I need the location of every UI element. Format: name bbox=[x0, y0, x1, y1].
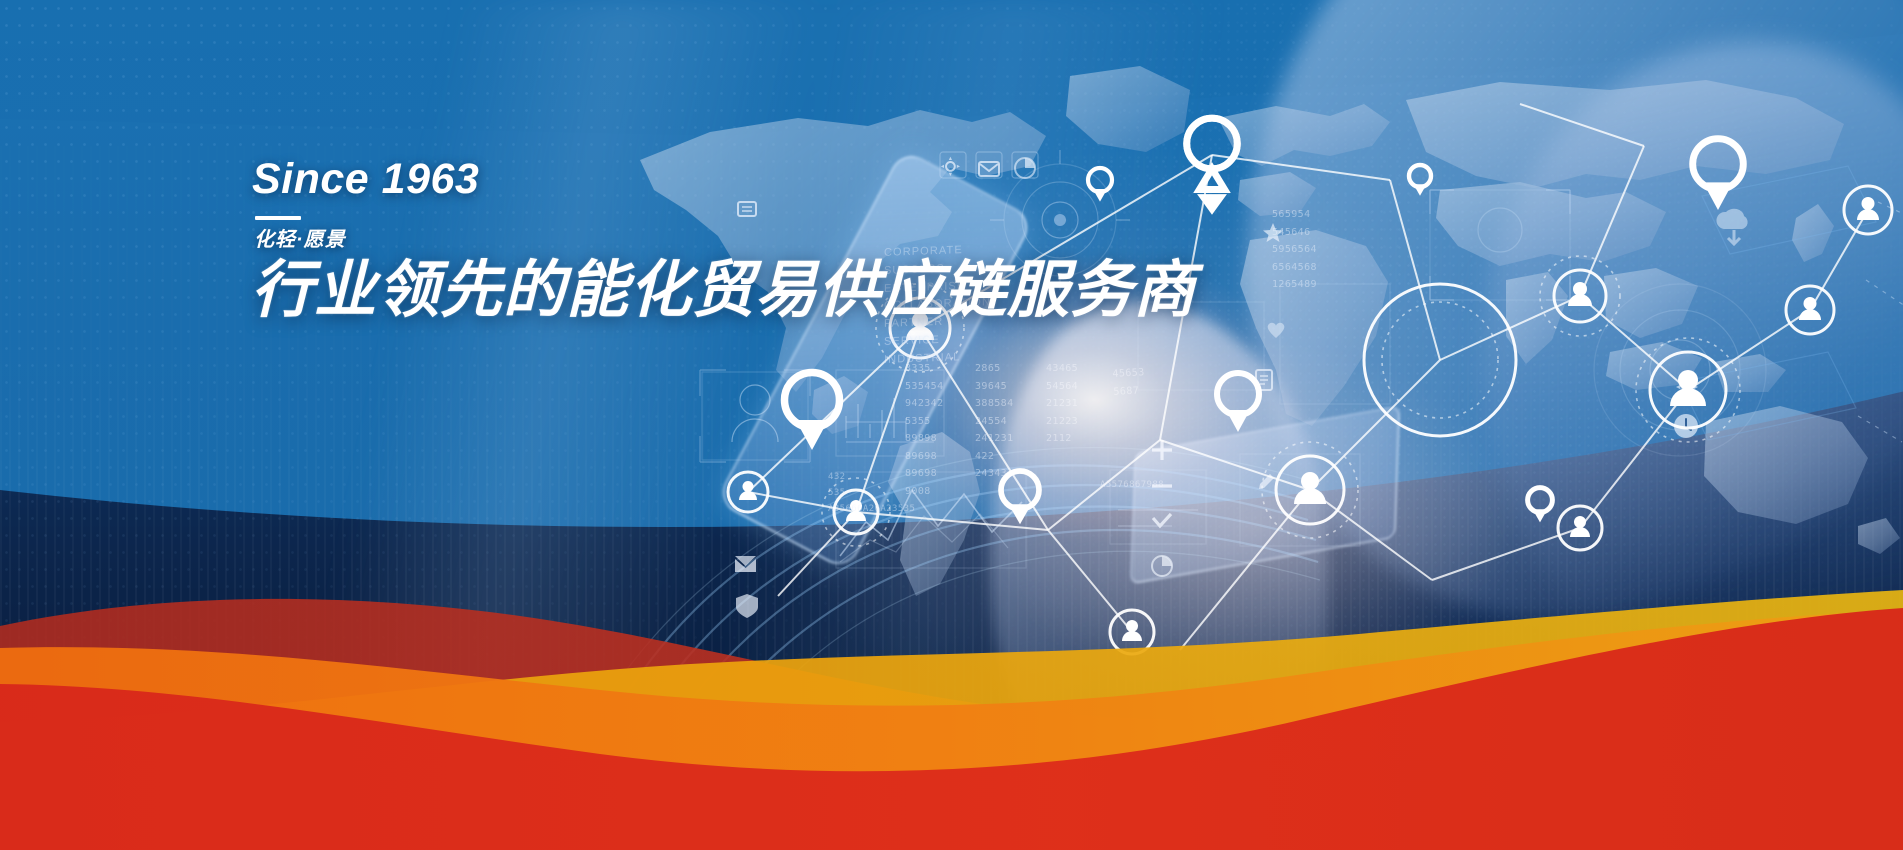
divider-rule bbox=[255, 216, 301, 220]
page-title: 行业领先的能化贸易供应链服务商 bbox=[251, 258, 1196, 325]
color-wave-band bbox=[0, 470, 1903, 850]
hero-copy-block: Since 1963 化轻·愿景 行业领先的能化贸易供应链服务商 bbox=[252, 158, 1196, 325]
vision-subtitle: 化轻·愿景 bbox=[254, 229, 1196, 251]
since-label: Since 1963 bbox=[252, 158, 1196, 201]
hero-banner: CORPORATE SUCCESS ENTERPRISE COLLABORATI… bbox=[0, 0, 1903, 850]
